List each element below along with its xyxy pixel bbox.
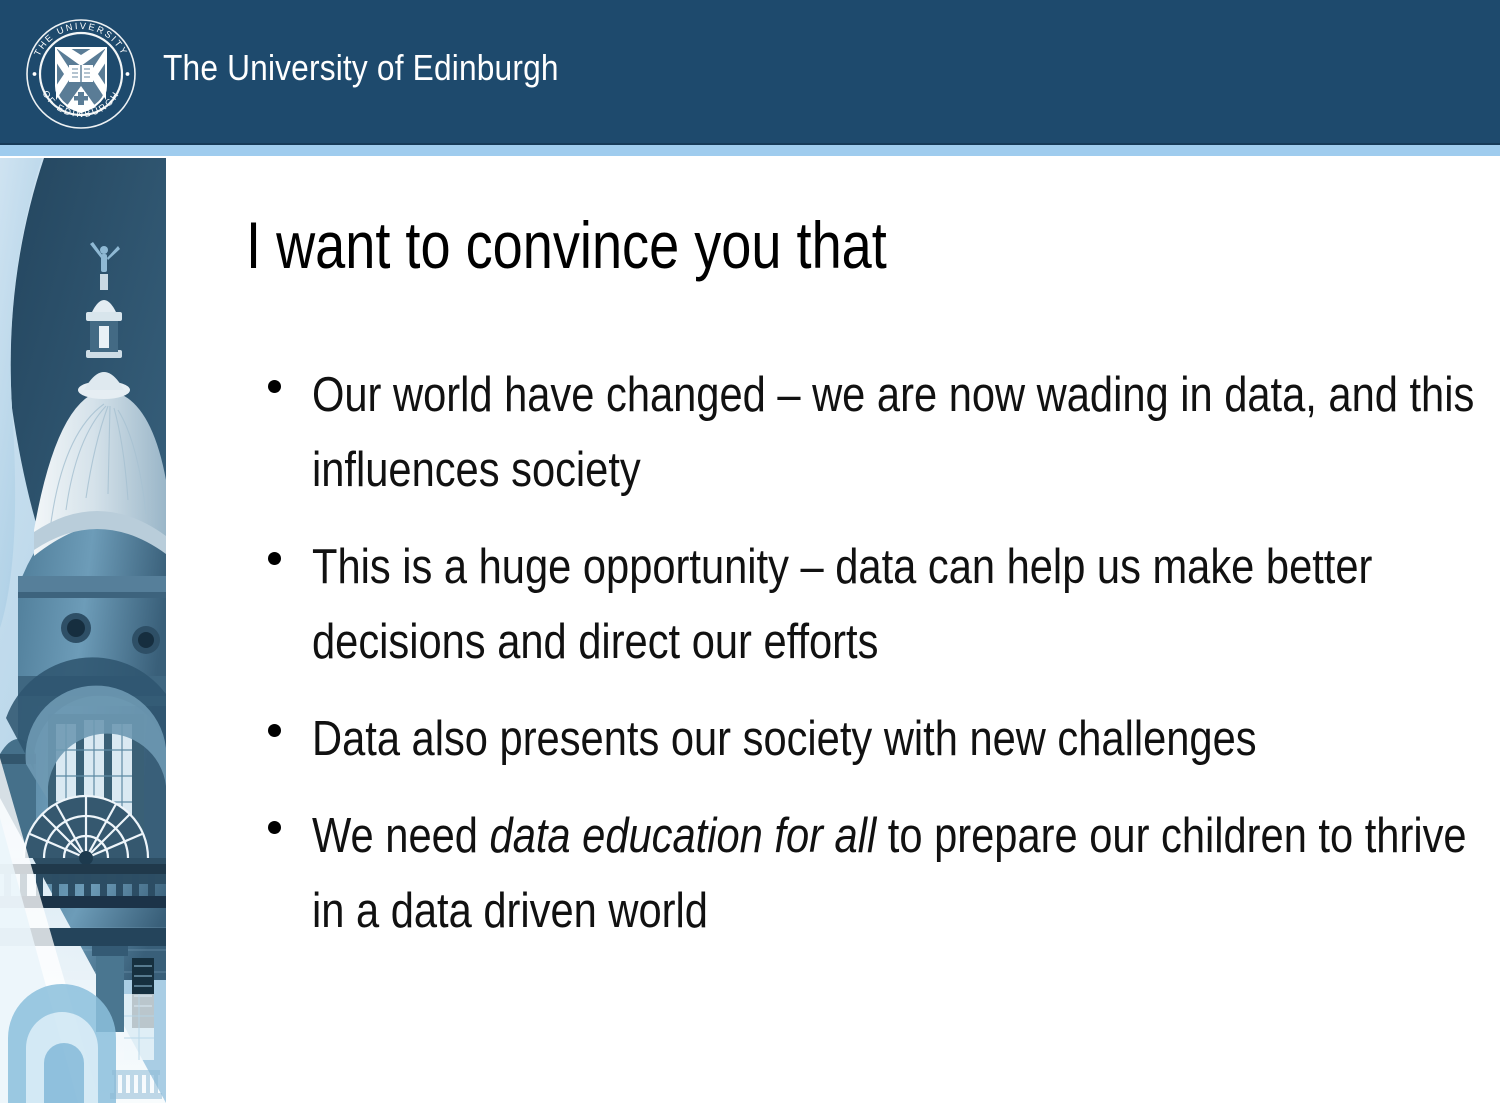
page-title: I want to convince you that [246, 206, 887, 284]
bullet-dot-icon [268, 724, 281, 737]
slide-content: I want to convince you that Our world ha… [166, 158, 1500, 1103]
list-item: Data also presents our society with new … [246, 702, 1496, 777]
accent-stripe [0, 145, 1500, 156]
bullet-text: Data also presents our society with new … [312, 702, 1496, 777]
bullet-dot-icon [268, 380, 281, 393]
bullet-dot-icon [268, 821, 281, 834]
list-item: We need data education for all to prepar… [246, 799, 1496, 949]
bullet-text: We need data education for all to prepar… [312, 799, 1496, 949]
bullet-text: This is a huge opportunity – data can he… [312, 530, 1496, 680]
bullet-list: Our world have changed – we are now wadi… [246, 358, 1496, 971]
bullet-dot-icon [268, 552, 281, 565]
brand-title: The University of Edinburgh [163, 46, 559, 90]
presentation-slide: THE UNIVERSITY OF EDINBURGH [0, 0, 1500, 1103]
list-item: Our world have changed – we are now wadi… [246, 358, 1496, 508]
list-item: This is a huge opportunity – data can he… [246, 530, 1496, 680]
university-crest-icon: THE UNIVERSITY OF EDINBURGH [18, 8, 144, 138]
old-college-photo [0, 158, 166, 1103]
bullet-text: Our world have changed – we are now wadi… [312, 358, 1496, 508]
